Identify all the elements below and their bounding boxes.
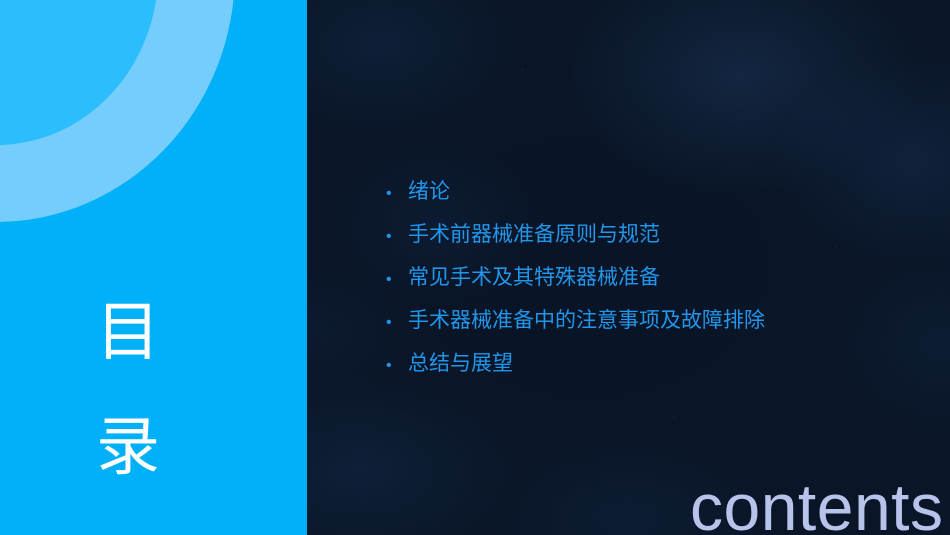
table-of-contents-list: • 绪论 • 手术前器械准备原则与规范 • 常见手术及其特殊器械准备 • 手术器… xyxy=(386,170,906,385)
bullet-icon: • xyxy=(386,344,408,387)
slide-title-vertical: 目 录 xyxy=(96,300,160,479)
list-item[interactable]: • 手术前器械准备原则与规范 xyxy=(386,213,906,256)
bullet-icon: • xyxy=(386,258,408,301)
toc-item-label: 常见手术及其特殊器械准备 xyxy=(408,256,660,299)
list-item[interactable]: • 绪论 xyxy=(386,170,906,213)
list-item[interactable]: • 常见手术及其特殊器械准备 xyxy=(386,256,906,299)
list-item[interactable]: • 手术器械准备中的注意事项及故障排除 xyxy=(386,299,906,342)
toc-item-label: 手术前器械准备原则与规范 xyxy=(408,213,660,256)
toc-item-label: 绪论 xyxy=(408,170,450,213)
slide-title-char-2: 录 xyxy=(96,415,160,479)
toc-item-label: 手术器械准备中的注意事项及故障排除 xyxy=(408,299,765,342)
bullet-icon: • xyxy=(386,172,408,215)
bullet-icon: • xyxy=(386,301,408,344)
presentation-slide: 目 录 • 绪论 • 手术前器械准备原则与规范 • 常见手术及其特殊器械准备 •… xyxy=(0,0,950,535)
bullet-icon: • xyxy=(386,215,408,258)
list-item[interactable]: • 总结与展望 xyxy=(386,342,906,385)
slide-title-char-1: 目 xyxy=(96,300,160,364)
toc-item-label: 总结与展望 xyxy=(408,342,513,385)
left-blue-panel: 目 录 xyxy=(0,0,307,535)
contents-wordmark: contents xyxy=(690,474,944,535)
